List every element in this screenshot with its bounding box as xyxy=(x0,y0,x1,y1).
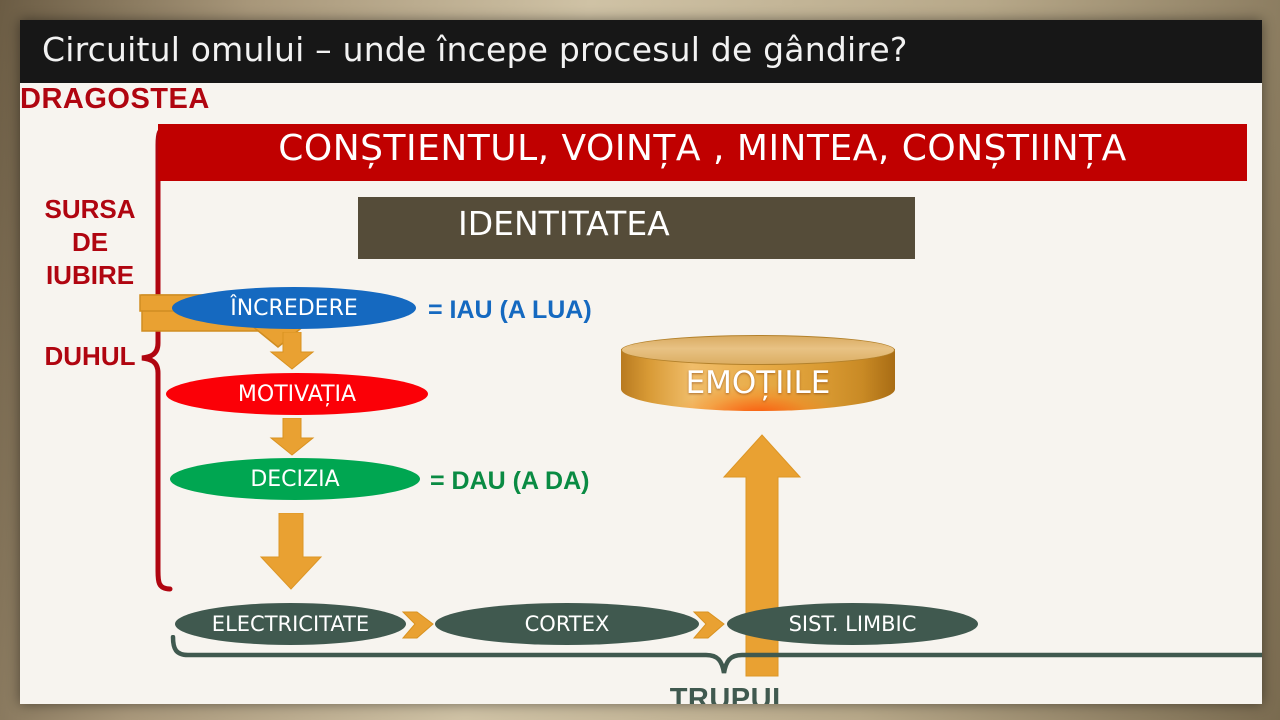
flow-node-motivation-label: MOTIVAȚIA xyxy=(238,382,356,407)
body-node-electricity-label: ELECTRICITATE xyxy=(212,612,369,636)
emotions-cylinder-top xyxy=(621,335,895,365)
title-bar: Circuitul omului – unde începe procesul … xyxy=(20,20,1262,83)
flow-node-decision: DECIZIA xyxy=(170,458,420,500)
body-label: TRUPUL xyxy=(650,683,810,704)
source-label-line-3: IUBIRE xyxy=(34,259,146,292)
body-node-limbic-system-label: SIST. LIMBIC xyxy=(789,612,917,636)
emotions-label: EMOȚIILE xyxy=(621,365,895,401)
consciousness-banner: CONȘTIENTUL, VOINȚA , MINTEA, CONȘTIINȚA xyxy=(158,124,1247,181)
arrow-down-icon xyxy=(259,513,323,596)
source-of-love-label: SURSA DE IUBIRE xyxy=(34,193,146,292)
source-label-line-2: DE xyxy=(34,226,146,259)
love-label: DRAGOSTEA xyxy=(20,83,1262,116)
flow-node-decision-label: DECIZIA xyxy=(250,467,339,492)
flow-node-decision-equals: = DAU (A DA) xyxy=(430,467,590,496)
arrow-down-icon xyxy=(269,418,315,461)
slide: Circuitul omului – unde începe procesul … xyxy=(20,20,1262,704)
slide-canvas: SURSA DE IUBIRE DUHUL CONȘTIENTUL, VOINȚ… xyxy=(20,83,1262,704)
emotions-cylinder: EMOȚIILE xyxy=(621,335,895,417)
flow-node-motivation: MOTIVAȚIA xyxy=(166,373,428,415)
identity-label: IDENTITATEA xyxy=(458,204,670,243)
flow-node-trust-label: ÎNCREDERE xyxy=(230,296,358,321)
spirit-label: DUHUL xyxy=(34,341,146,372)
flow-node-trust: ÎNCREDERE xyxy=(172,287,416,329)
body-node-cortex-label: CORTEX xyxy=(525,612,610,636)
page-title: Circuitul omului – unde începe procesul … xyxy=(42,30,908,69)
source-label-line-1: SURSA xyxy=(34,193,146,226)
arrow-down-icon xyxy=(269,332,315,375)
identity-box: IDENTITATEA xyxy=(358,197,915,259)
curly-brace-down-icon xyxy=(170,635,1262,685)
flow-node-trust-equals: = IAU (A LUA) xyxy=(428,296,592,325)
consciousness-banner-text: CONȘTIENTUL, VOINȚA , MINTEA, CONȘTIINȚA xyxy=(158,128,1247,169)
